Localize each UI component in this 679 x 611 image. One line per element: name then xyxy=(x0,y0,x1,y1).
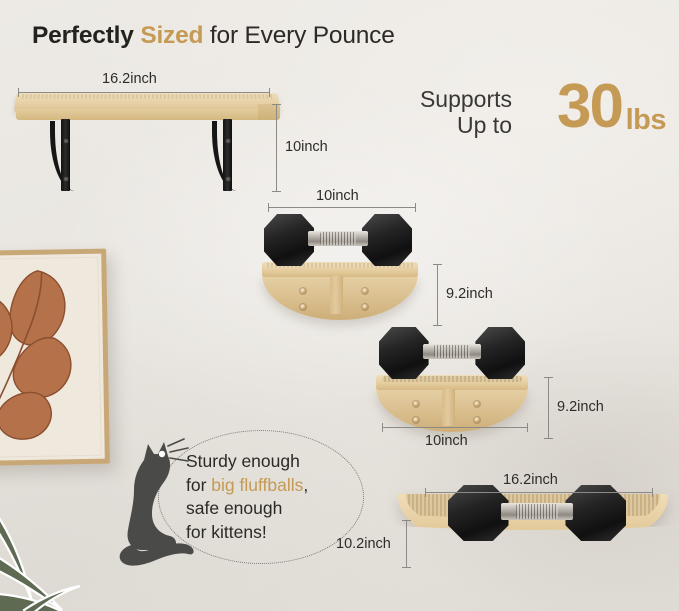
cat-eye xyxy=(159,451,165,457)
cat-silhouette-icon xyxy=(118,438,202,568)
supports-badge: Supports Up to 30 lbs xyxy=(398,84,666,148)
dumbbell-head-right xyxy=(475,327,525,379)
shelf-bracket-left xyxy=(50,119,78,191)
callout-line-1: Sturdy enough xyxy=(186,451,300,471)
page-title: Perfectly Sized for Every Pounce xyxy=(32,22,395,50)
infographic-canvas: 16.2inch 10inch 10inch 9.2inch xyxy=(0,0,679,611)
screw-hole xyxy=(362,288,368,294)
art-inner-border xyxy=(0,257,102,459)
half-round-shelf-upper xyxy=(262,262,418,328)
bracket-screw xyxy=(226,177,230,181)
dim-line-shelf1-depth xyxy=(276,104,277,192)
shelf-center-support xyxy=(330,276,343,314)
dumbbell-head-right xyxy=(565,485,626,541)
supports-weight-number: 30 xyxy=(557,76,622,138)
rectangular-shelf xyxy=(14,92,280,192)
supports-line-2: Up to xyxy=(457,112,512,138)
dim-line-shelf2-width xyxy=(268,207,416,208)
shelf-sisal-strip xyxy=(20,94,275,99)
dumbbell-knurling xyxy=(434,345,469,359)
dumbbell-hammock xyxy=(448,485,626,541)
dim-label-shelf2-depth: 9.2inch xyxy=(446,286,493,302)
dim-line-shelf3-depth xyxy=(548,377,549,439)
dumbbell-head-left xyxy=(448,485,509,541)
plant-leaves-icon xyxy=(0,498,134,611)
supports-line-1: Supports xyxy=(420,86,512,112)
dumbbell-head-right xyxy=(362,214,412,266)
bracket-screw xyxy=(64,139,68,143)
dumbbell-knurling xyxy=(320,232,356,246)
dumbbell-upper xyxy=(264,214,412,266)
dim-line-shelf4-depth xyxy=(406,520,407,568)
dim-label-shelf2-width: 10inch xyxy=(316,188,359,204)
bracket-screw xyxy=(226,139,230,143)
supports-text: Supports Up to xyxy=(420,86,512,138)
dumbbell-knurling xyxy=(516,504,559,519)
dim-line-shelf4-width xyxy=(425,492,653,493)
screw-hole xyxy=(474,401,480,407)
title-part-1: Perfectly xyxy=(32,22,134,49)
dim-line-shelf1-width xyxy=(18,92,270,93)
dim-label-shelf3-width: 10inch xyxy=(425,433,468,449)
dim-line-shelf3-width xyxy=(382,427,528,428)
callout-line-2-post: , xyxy=(303,475,308,495)
supports-weight-unit: lbs xyxy=(626,106,666,135)
screw-hole xyxy=(300,304,306,310)
screw-hole xyxy=(413,417,419,423)
dumbbell-head-left xyxy=(379,327,429,379)
screw-hole xyxy=(300,288,306,294)
half-round-shelf-lower xyxy=(376,375,528,439)
art-mat xyxy=(0,254,105,462)
screw-hole xyxy=(413,401,419,407)
shelf-bracket-right xyxy=(212,119,240,191)
callout-text: Sturdy enough for big fluffballs, safe e… xyxy=(186,450,362,544)
shelf-center-support xyxy=(442,389,455,426)
dim-label-shelf3-depth: 9.2inch xyxy=(557,399,604,415)
title-part-3: for Every Pounce xyxy=(210,22,395,49)
callout-line-2-highlight: big fluffballs xyxy=(211,475,303,495)
dim-label-shelf1-depth: 10inch xyxy=(285,139,328,155)
title-part-2-highlight: Sized xyxy=(140,22,203,49)
dim-label-shelf1-width: 16.2inch xyxy=(102,71,157,87)
dumbbell-head-left xyxy=(264,214,314,266)
bracket-screw xyxy=(64,177,68,181)
framed-art xyxy=(0,249,110,467)
screw-hole xyxy=(474,417,480,423)
dim-label-shelf4-width: 16.2inch xyxy=(503,472,558,488)
dumbbell-lower xyxy=(379,327,525,379)
dim-line-shelf2-depth xyxy=(437,264,438,326)
screw-hole xyxy=(362,304,368,310)
